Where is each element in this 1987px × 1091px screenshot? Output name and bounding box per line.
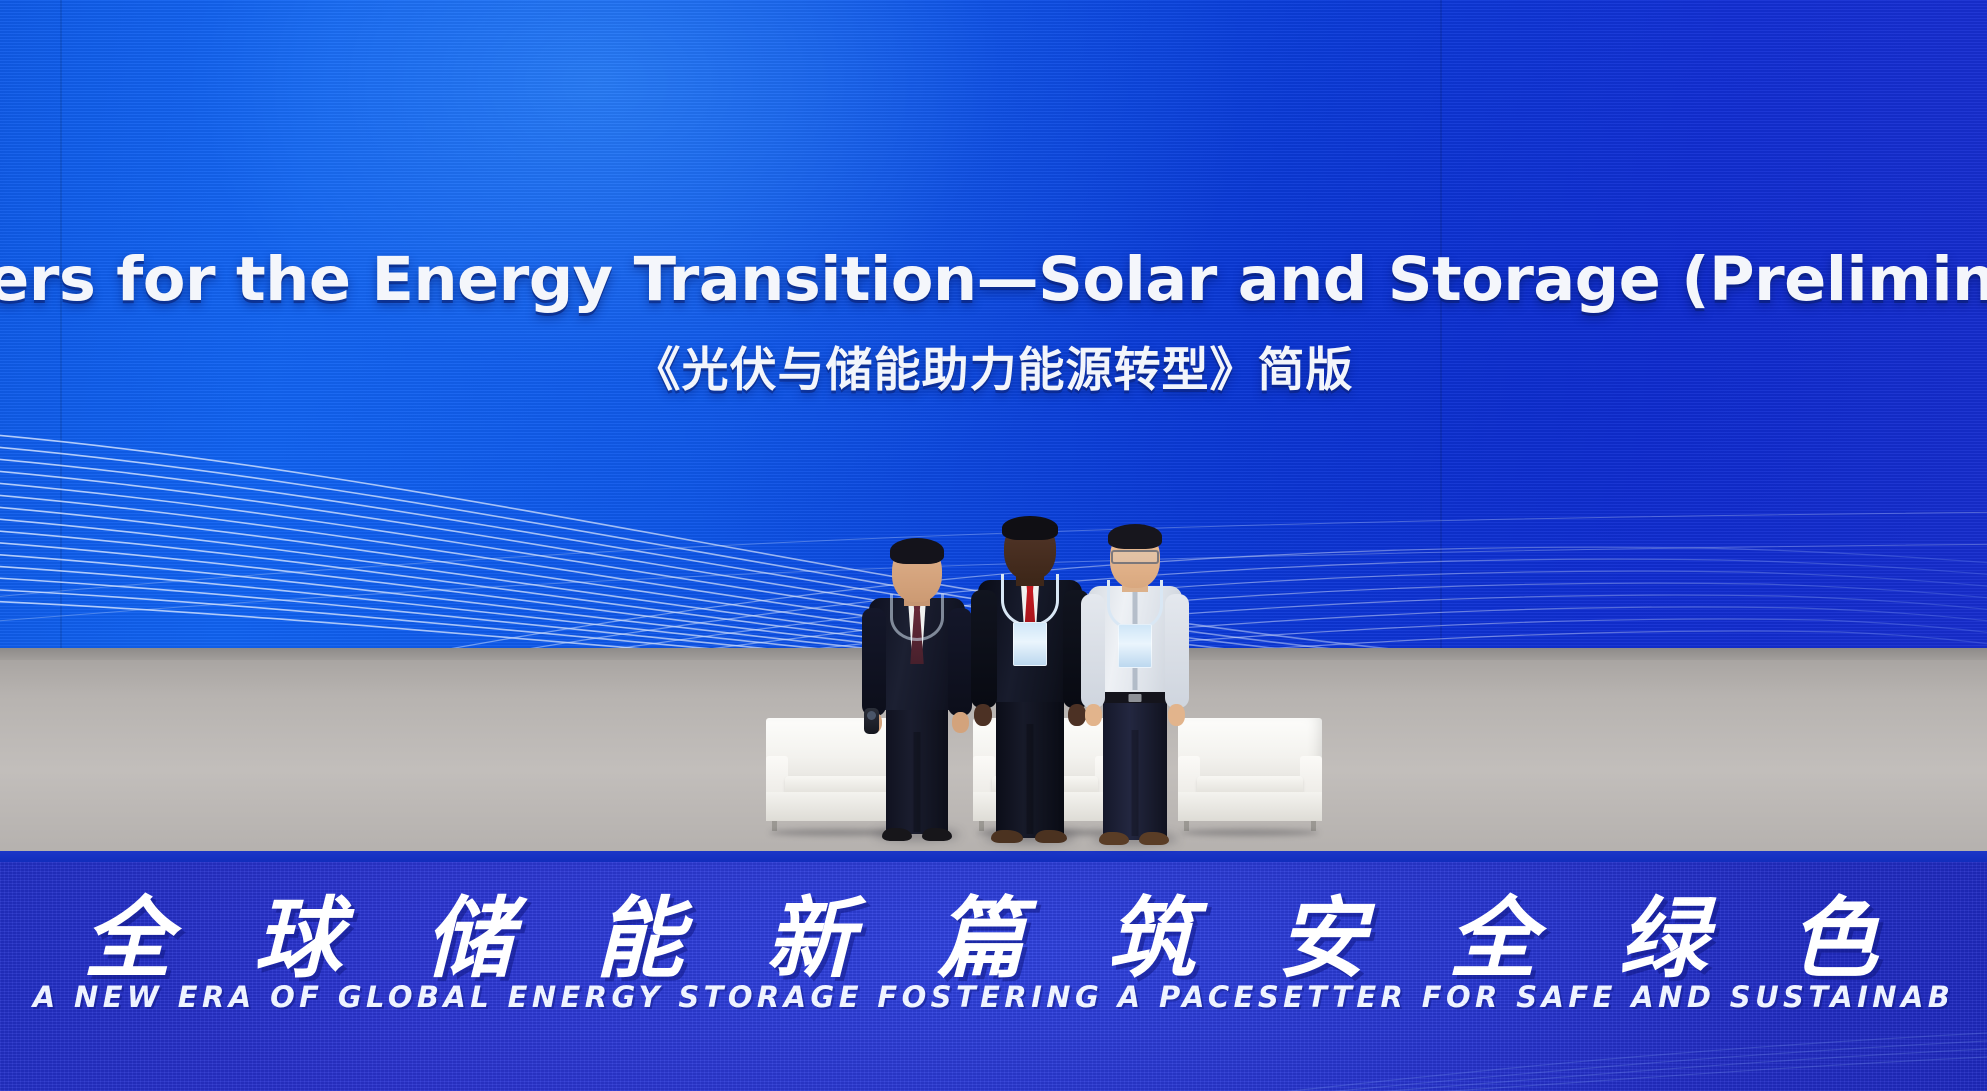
belt-buckle bbox=[1129, 694, 1142, 702]
trouser-leg-gap bbox=[1027, 724, 1034, 834]
person-right bbox=[1081, 524, 1189, 840]
chair-base bbox=[1178, 792, 1322, 821]
arm-right bbox=[1165, 594, 1189, 708]
hair bbox=[890, 538, 944, 564]
person-left bbox=[862, 536, 972, 836]
shoe-left bbox=[991, 830, 1023, 843]
hand-right bbox=[1168, 704, 1185, 726]
conference-badge bbox=[1118, 624, 1152, 668]
shoe-right bbox=[1035, 830, 1067, 843]
shoe-right bbox=[1139, 832, 1169, 845]
shoe-left bbox=[1099, 832, 1129, 845]
wall-panel-seam bbox=[60, 0, 62, 690]
wall-panel-seam bbox=[1440, 0, 1442, 690]
banner-chinese-slogan: 全 球 储 能 新 篇 筑 安 全 绿 色 bbox=[0, 868, 1987, 995]
hand-left bbox=[1085, 704, 1102, 726]
arm-left bbox=[862, 608, 886, 716]
trouser-leg-gap bbox=[1132, 730, 1139, 836]
conference-stage-photo: ers for the Energy Transition—Solar and … bbox=[0, 0, 1987, 1091]
shoe-left bbox=[882, 828, 912, 841]
banner-english-slogan: A NEW ERA OF GLOBAL ENERGY STORAGE FOSTE… bbox=[0, 980, 1987, 1014]
hand-left bbox=[974, 704, 992, 726]
chair-right bbox=[1178, 718, 1322, 830]
hair bbox=[1002, 516, 1058, 540]
person-center bbox=[971, 516, 1089, 838]
microphone bbox=[864, 708, 879, 734]
arm-left bbox=[1081, 594, 1105, 708]
arm-left bbox=[971, 590, 997, 708]
eyeglasses bbox=[1111, 550, 1159, 564]
hair bbox=[1108, 524, 1162, 549]
hand-right bbox=[952, 712, 969, 733]
trouser-leg-gap bbox=[914, 732, 921, 832]
stage-front-led-banner: 全 球 储 能 新 篇 筑 安 全 绿 色 A NEW ERA OF GLOBA… bbox=[0, 862, 1987, 1091]
chair-shadow bbox=[1181, 829, 1319, 836]
shoe-right bbox=[922, 828, 952, 841]
conference-badge bbox=[1013, 622, 1047, 666]
arm-right bbox=[948, 608, 972, 716]
